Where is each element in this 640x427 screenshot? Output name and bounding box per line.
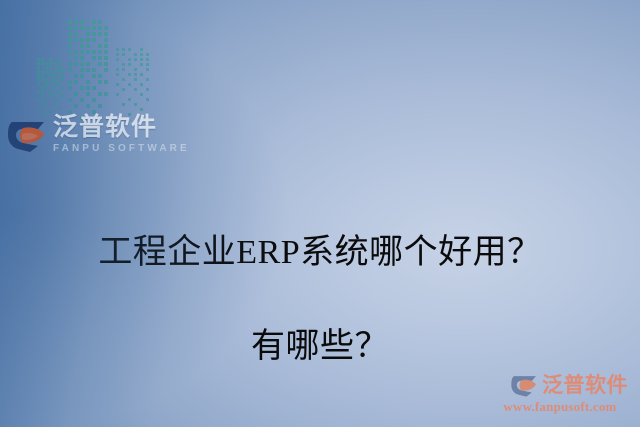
watermark-url: www.fanpusoft.com [492, 400, 628, 413]
poster-canvas: 泛普软件 FANPU SOFTWARE 工程企业ERP系统哪个好用？ 有哪些？ … [0, 0, 640, 427]
pixelated-building-skyline-icon [36, 8, 158, 120]
watermark: 泛普软件 www.fanpusoft.com [492, 372, 628, 413]
brand-name-en: FANPU SOFTWARE [53, 144, 190, 154]
brand-words: 泛普软件 FANPU SOFTWARE [53, 115, 190, 154]
watermark-row: 泛普软件 [492, 372, 628, 398]
page-title-line-1: 工程企业ERP系统哪个好用？ [40, 229, 600, 276]
page-title-line-2: 有哪些？ [40, 323, 600, 370]
brand-lockup: 泛普软件 FANPU SOFTWARE [8, 115, 190, 154]
fanpu-logo-icon [8, 116, 48, 154]
watermark-name-cn: 泛普软件 [542, 375, 628, 396]
fanpu-watermark-icon [511, 372, 539, 398]
brand-name-cn: 泛普软件 [53, 115, 190, 140]
